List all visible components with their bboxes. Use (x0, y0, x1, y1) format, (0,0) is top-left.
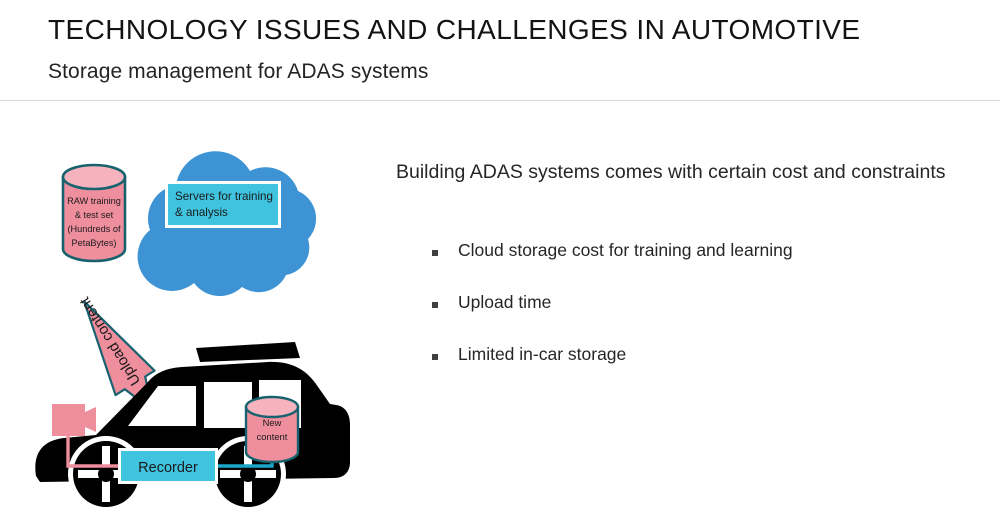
new-cylinder-line1: New (263, 417, 282, 428)
list-item-label: Limited in-car storage (458, 344, 626, 365)
page-subtitle: Storage management for ADAS systems (48, 60, 429, 84)
list-item: Upload time (432, 292, 972, 344)
server-box-line1: Servers for training (175, 190, 273, 203)
bullet-square-icon (432, 354, 438, 360)
list-item-label: Upload time (458, 292, 551, 313)
bullet-square-icon (432, 302, 438, 308)
raw-cylinder-line4: PetaBytes) (72, 238, 117, 248)
raw-cylinder-line1: RAW training (67, 196, 121, 206)
recorder-box-label: Recorder (138, 460, 198, 476)
adas-storage-diagram: Servers for training & analysis Upload c… (0, 110, 380, 526)
raw-cylinder-line3: (Hundreds of (67, 224, 121, 234)
slide: TECHNOLOGY ISSUES AND CHALLENGES IN AUTO… (0, 0, 1000, 526)
bullet-list: Cloud storage cost for training and lear… (432, 240, 972, 396)
slide-header: TECHNOLOGY ISSUES AND CHALLENGES IN AUTO… (0, 0, 1000, 101)
lead-statement: Building ADAS systems comes with certain… (396, 161, 946, 184)
list-item-label: Cloud storage cost for training and lear… (458, 240, 793, 261)
camera-icon (52, 404, 96, 436)
list-item: Cloud storage cost for training and lear… (432, 240, 972, 292)
recorder-box: Recorder (118, 448, 218, 484)
server-box: Servers for training & analysis (165, 181, 281, 228)
bullet-square-icon (432, 250, 438, 256)
raw-cylinder-line2: & test set (75, 210, 114, 220)
new-content-cylinder: New content (246, 397, 298, 462)
list-item: Limited in-car storage (432, 344, 972, 396)
raw-data-cylinder: RAW training & test set (Hundreds of Pet… (63, 165, 125, 261)
page-title: TECHNOLOGY ISSUES AND CHALLENGES IN AUTO… (48, 14, 860, 46)
new-cylinder-line2: content (257, 431, 288, 442)
header-divider (0, 100, 1000, 101)
server-box-line2: & analysis (175, 206, 228, 219)
